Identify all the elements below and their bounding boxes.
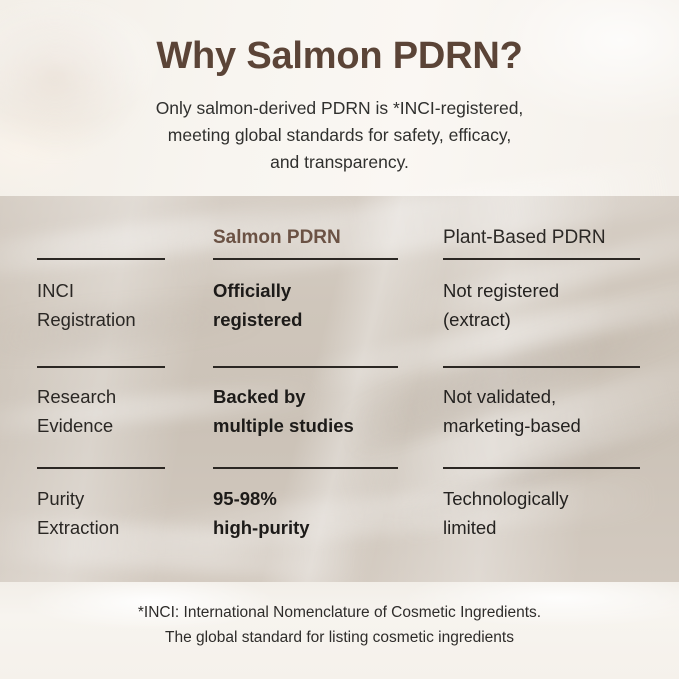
cell-plant-line-1: Technologically xyxy=(443,484,568,513)
cell-plant-line-2: (extract) xyxy=(443,305,559,334)
table-row: Backed by multiple studies xyxy=(213,382,354,440)
footnote-line-1: *INCI: International Nomenclature of Cos… xyxy=(40,600,639,625)
subtitle-line-1: Only salmon-derived PDRN is *INCI-regist… xyxy=(60,95,619,122)
cell-criteria-line-2: Evidence xyxy=(37,411,116,440)
subtitle-line-3: and transparency. xyxy=(60,149,619,176)
subtitle-line-2: meeting global standards for safety, eff… xyxy=(60,122,619,149)
cell-salmon-line-1: Officially xyxy=(213,276,302,305)
table-rule-col2 xyxy=(213,366,398,368)
table-column-header-plant: Plant-Based PDRN xyxy=(443,226,606,250)
table-column-header-salmon: Salmon PDRN xyxy=(213,226,341,250)
table-rule-col1 xyxy=(37,258,165,260)
table-row: Technologically limited xyxy=(443,484,568,542)
table-row: Officially registered xyxy=(213,276,302,334)
table-rule-col1 xyxy=(37,366,165,368)
cell-plant-line-2: limited xyxy=(443,513,568,542)
cell-criteria-line-1: Purity xyxy=(37,484,119,513)
cell-plant-line-1: Not validated, xyxy=(443,382,581,411)
table-row: Research Evidence xyxy=(37,382,116,440)
table-rule-col3 xyxy=(443,258,640,260)
cell-plant-line-1: Not registered xyxy=(443,276,559,305)
table-rule-col3 xyxy=(443,467,640,469)
cell-criteria-line-2: Registration xyxy=(37,305,136,334)
table-rule-col2 xyxy=(213,258,398,260)
table-row: Not validated, marketing-based xyxy=(443,382,581,440)
poster-root: Why Salmon PDRN? Only salmon-derived PDR… xyxy=(0,0,679,679)
table-rule-col3 xyxy=(443,366,640,368)
page-subtitle: Only salmon-derived PDRN is *INCI-regist… xyxy=(60,95,619,176)
cell-salmon-line-2: high-purity xyxy=(213,513,310,542)
table-row: INCI Registration xyxy=(37,276,136,334)
table-row: 95-98% high-purity xyxy=(213,484,310,542)
page-title: Why Salmon PDRN? xyxy=(0,35,679,78)
footnote: *INCI: International Nomenclature of Cos… xyxy=(40,600,639,650)
cell-salmon-line-1: 95-98% xyxy=(213,484,310,513)
cell-criteria-line-2: Extraction xyxy=(37,513,119,542)
cell-plant-line-2: marketing-based xyxy=(443,411,581,440)
cell-salmon-line-2: registered xyxy=(213,305,302,334)
table-rule-col1 xyxy=(37,467,165,469)
table-row: Purity Extraction xyxy=(37,484,119,542)
cell-criteria-line-1: INCI xyxy=(37,276,136,305)
cell-salmon-line-2: multiple studies xyxy=(213,411,354,440)
cell-salmon-line-1: Backed by xyxy=(213,382,354,411)
table-rule-col2 xyxy=(213,467,398,469)
footnote-line-2: The global standard for listing cosmetic… xyxy=(40,625,639,650)
cell-criteria-line-1: Research xyxy=(37,382,116,411)
table-row: Not registered (extract) xyxy=(443,276,559,334)
